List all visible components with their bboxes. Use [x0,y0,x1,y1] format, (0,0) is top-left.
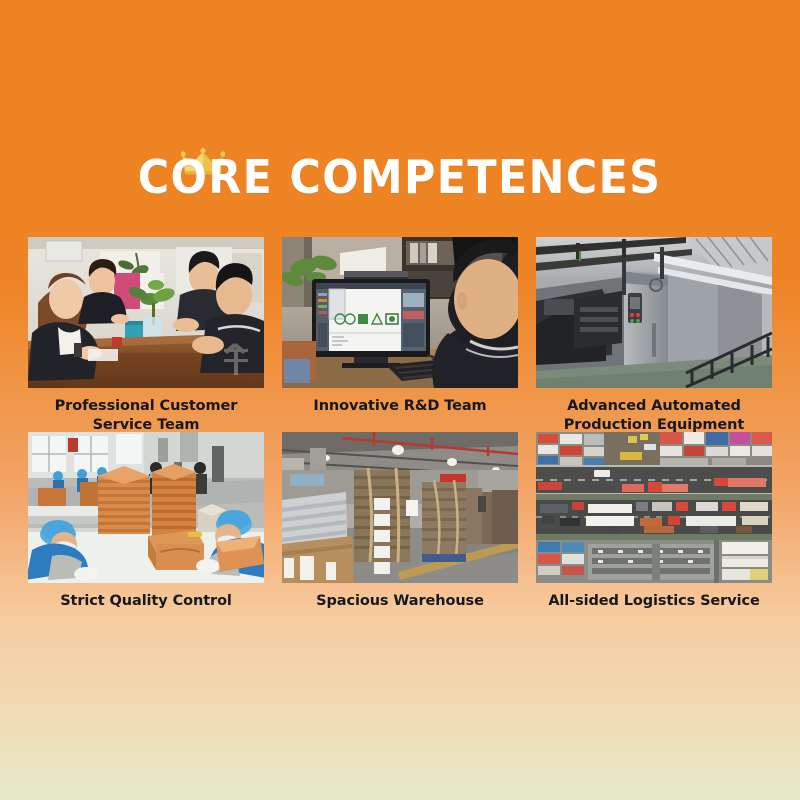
card-advanced-automated-production-equipment[interactable]: Advanced Automated Production Equipment [536,237,772,432]
competence-card-grid: Professional Customer Service Team [28,237,772,624]
page-header: CORE COMPETENCES [0,148,800,206]
caption-line-1: All-sided Logistics Service [548,593,759,609]
card-strict-quality-control[interactable]: Strict Quality Control [28,432,264,624]
caption-line-1: Advanced Automated [567,398,741,414]
card-caption: Advanced Automated Production Equipment [536,397,772,434]
printing-press-factory-photo [536,237,772,388]
card-spacious-warehouse[interactable]: Spacious Warehouse [282,432,518,624]
page-title: CORE COMPETENCES [138,148,662,206]
caption-line-1: Innovative R&D Team [313,398,486,414]
meeting-room-photo [28,237,264,388]
caption-line-1: Strict Quality Control [60,593,232,609]
warehouse-pallets-photo [282,432,518,583]
aerial-container-terminal-photo [536,432,772,583]
card-caption: Spacious Warehouse [282,592,518,611]
card-caption: Professional Customer Service Team [28,397,264,434]
card-caption: All-sided Logistics Service [536,592,772,611]
caption-line-1: Spacious Warehouse [316,593,484,609]
card-all-sided-logistics-service[interactable]: All-sided Logistics Service [536,432,772,624]
caption-line-2: Production Equipment [564,417,744,433]
quality-inspection-workers-photo [28,432,264,583]
card-caption: Strict Quality Control [28,592,264,611]
caption-line-2: Service Team [93,417,200,433]
designer-at-computer-photo [282,237,518,388]
card-innovative-rd-team[interactable]: Innovative R&D Team [282,237,518,432]
caption-line-1: Professional Customer [55,398,238,414]
card-professional-customer-service-team[interactable]: Professional Customer Service Team [28,237,264,432]
card-caption: Innovative R&D Team [282,397,518,416]
